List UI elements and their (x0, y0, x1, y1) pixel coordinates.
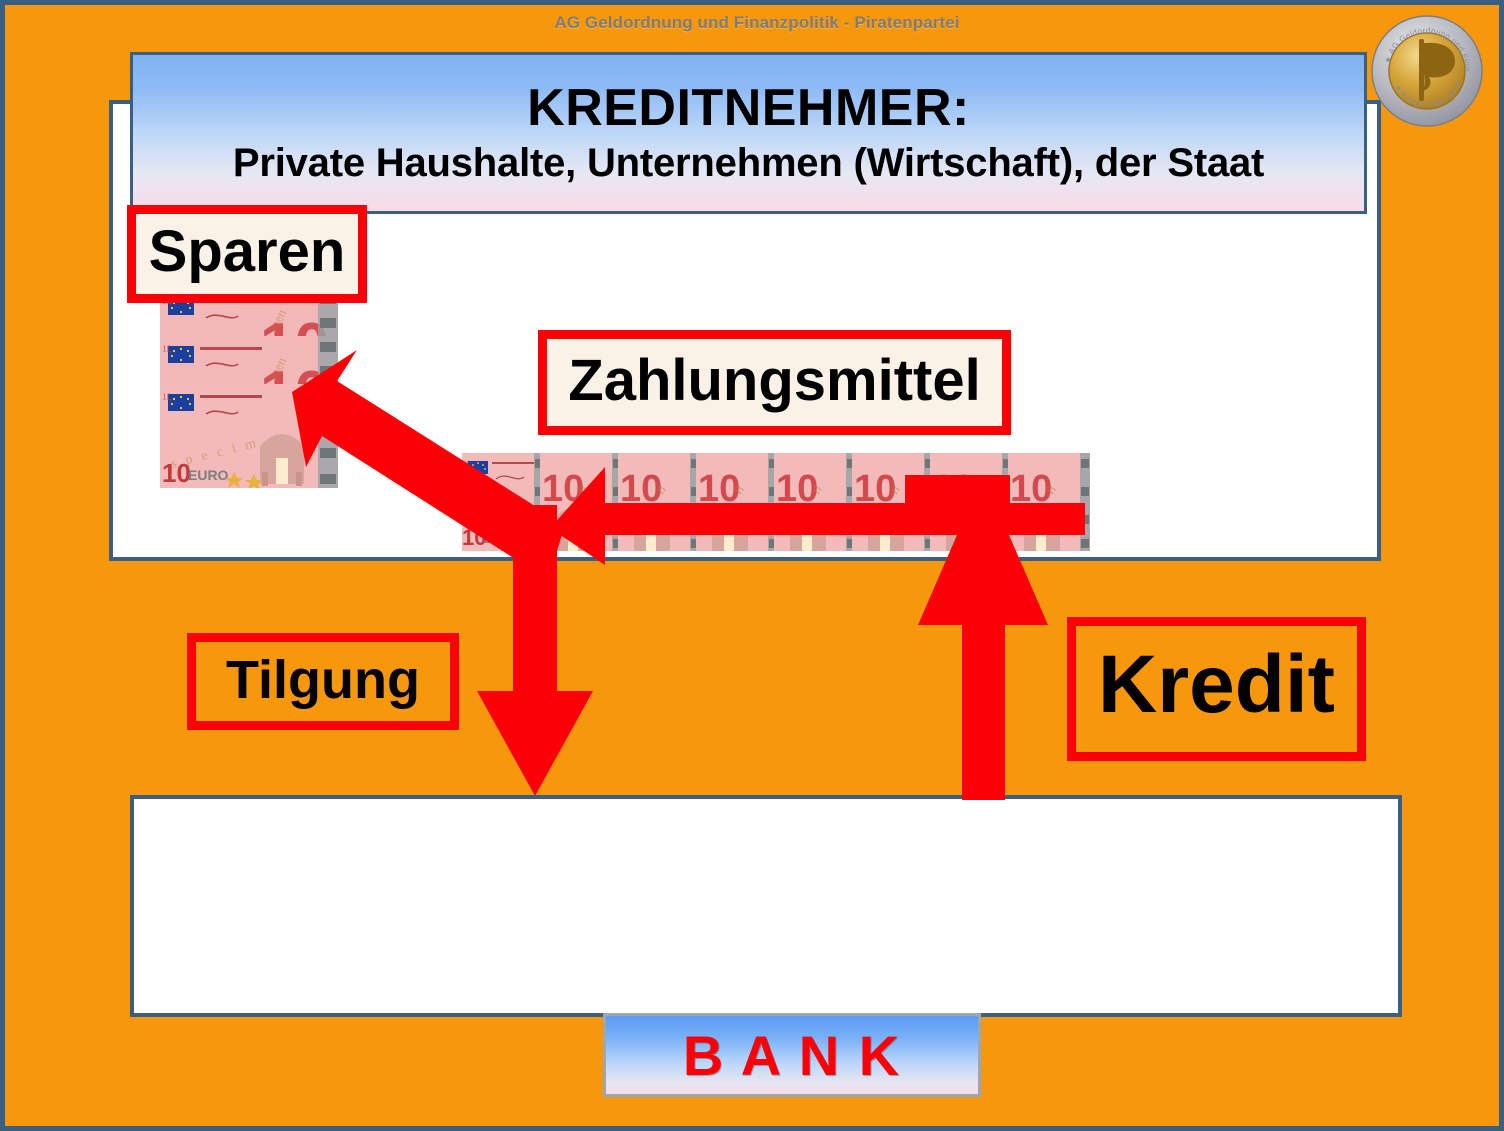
bank-panel (130, 795, 1402, 1017)
banknote-10-euro: 10 n (852, 453, 934, 551)
banknote-10-euro: 1f, 10 EURO s p e c i m (160, 384, 338, 488)
label-kredit-text: Kredit (1098, 644, 1335, 726)
header-bar: AG Geldordnung und Finanzpolitik - Pirat… (5, 5, 1504, 41)
payment-means-banknote-row: 1f, 10 EURO s p e c 10 n 10 (462, 453, 1087, 551)
label-tilgung-text: Tilgung (226, 653, 420, 707)
title-box: KREDITNEHMER: Private Haushalte, Unterne… (130, 52, 1367, 214)
svg-text:1f,: 1f, (463, 460, 471, 468)
bank-badge[interactable]: B A N K (603, 1013, 981, 1097)
piratenpartei-coin-logo-icon: ★ AG Geldordnung und Finanzpolitik ★ ★ P… (1369, 13, 1485, 129)
svg-text:10: 10 (462, 525, 486, 550)
banknote-10-euro: 10 n (540, 453, 622, 551)
label-sparen[interactable]: Sparen (127, 205, 367, 303)
label-zahlungsmittel[interactable]: Zahlungsmittel (538, 330, 1011, 435)
svg-text:1f,: 1f, (162, 392, 172, 402)
banknote-10-euro: 10 n (930, 453, 1012, 551)
savings-banknote-stack: 1f, 10 men 1f, 10 (160, 288, 350, 488)
banknote-10-euro: 10 n (618, 453, 700, 551)
svg-text:EURO: EURO (484, 534, 516, 546)
label-tilgung[interactable]: Tilgung (187, 633, 459, 730)
label-zahlungsmittel-text: Zahlungsmittel (568, 352, 980, 410)
bank-label: B A N K (683, 1023, 901, 1088)
svg-text:EURO: EURO (188, 467, 229, 483)
header-title: AG Geldordnung und Finanzpolitik - Pirat… (554, 13, 959, 33)
label-kredit[interactable]: Kredit (1067, 617, 1366, 761)
banknote-10-euro: 10 n (696, 453, 778, 551)
page-title: KREDITNEHMER: (527, 81, 970, 136)
svg-text:1f,: 1f, (162, 344, 172, 354)
banknote-10-euro: 10 n (774, 453, 856, 551)
page-subtitle: Private Haushalte, Unternehmen (Wirtscha… (233, 141, 1264, 185)
slide-canvas: AG Geldordnung und Finanzpolitik - Pirat… (0, 0, 1504, 1131)
label-sparen-text: Sparen (149, 223, 346, 281)
banknote-10-euro: 1f, 10 EURO s p e c (462, 453, 544, 551)
banknote-10-euro: 10 n (1008, 453, 1090, 551)
